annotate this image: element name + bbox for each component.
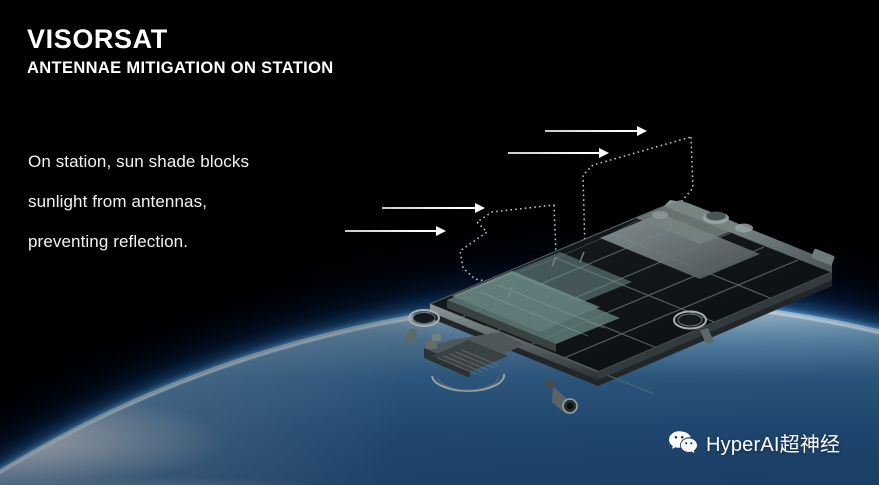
body-copy: On station, sun shade blocks sunlight fr… [28, 142, 249, 262]
body-line-3: preventing reflection. [28, 222, 249, 262]
body-line-1: On station, sun shade blocks [28, 142, 249, 182]
satellite-forward-assembly [424, 332, 524, 391]
watermark-text: HyperAI超神经 [706, 428, 840, 457]
watermark: HyperAI超神经 [668, 428, 840, 457]
arrow-to-left-visor-top [382, 207, 476, 209]
body-line-2: sunlight from antennas, [28, 182, 249, 222]
arrow-to-right-visor-bottom [508, 152, 600, 154]
thruster-cylinder [544, 378, 577, 414]
arrow-to-left-visor-bottom [345, 230, 437, 232]
visorsat-slide: VISORSAT ANTENNAE MITIGATION ON STATION … [0, 0, 879, 485]
arrow-to-right-visor-top [545, 130, 638, 132]
page-subtitle: ANTENNAE MITIGATION ON STATION [27, 60, 334, 77]
wechat-icon [668, 430, 698, 456]
page-title: VISORSAT [27, 26, 168, 53]
